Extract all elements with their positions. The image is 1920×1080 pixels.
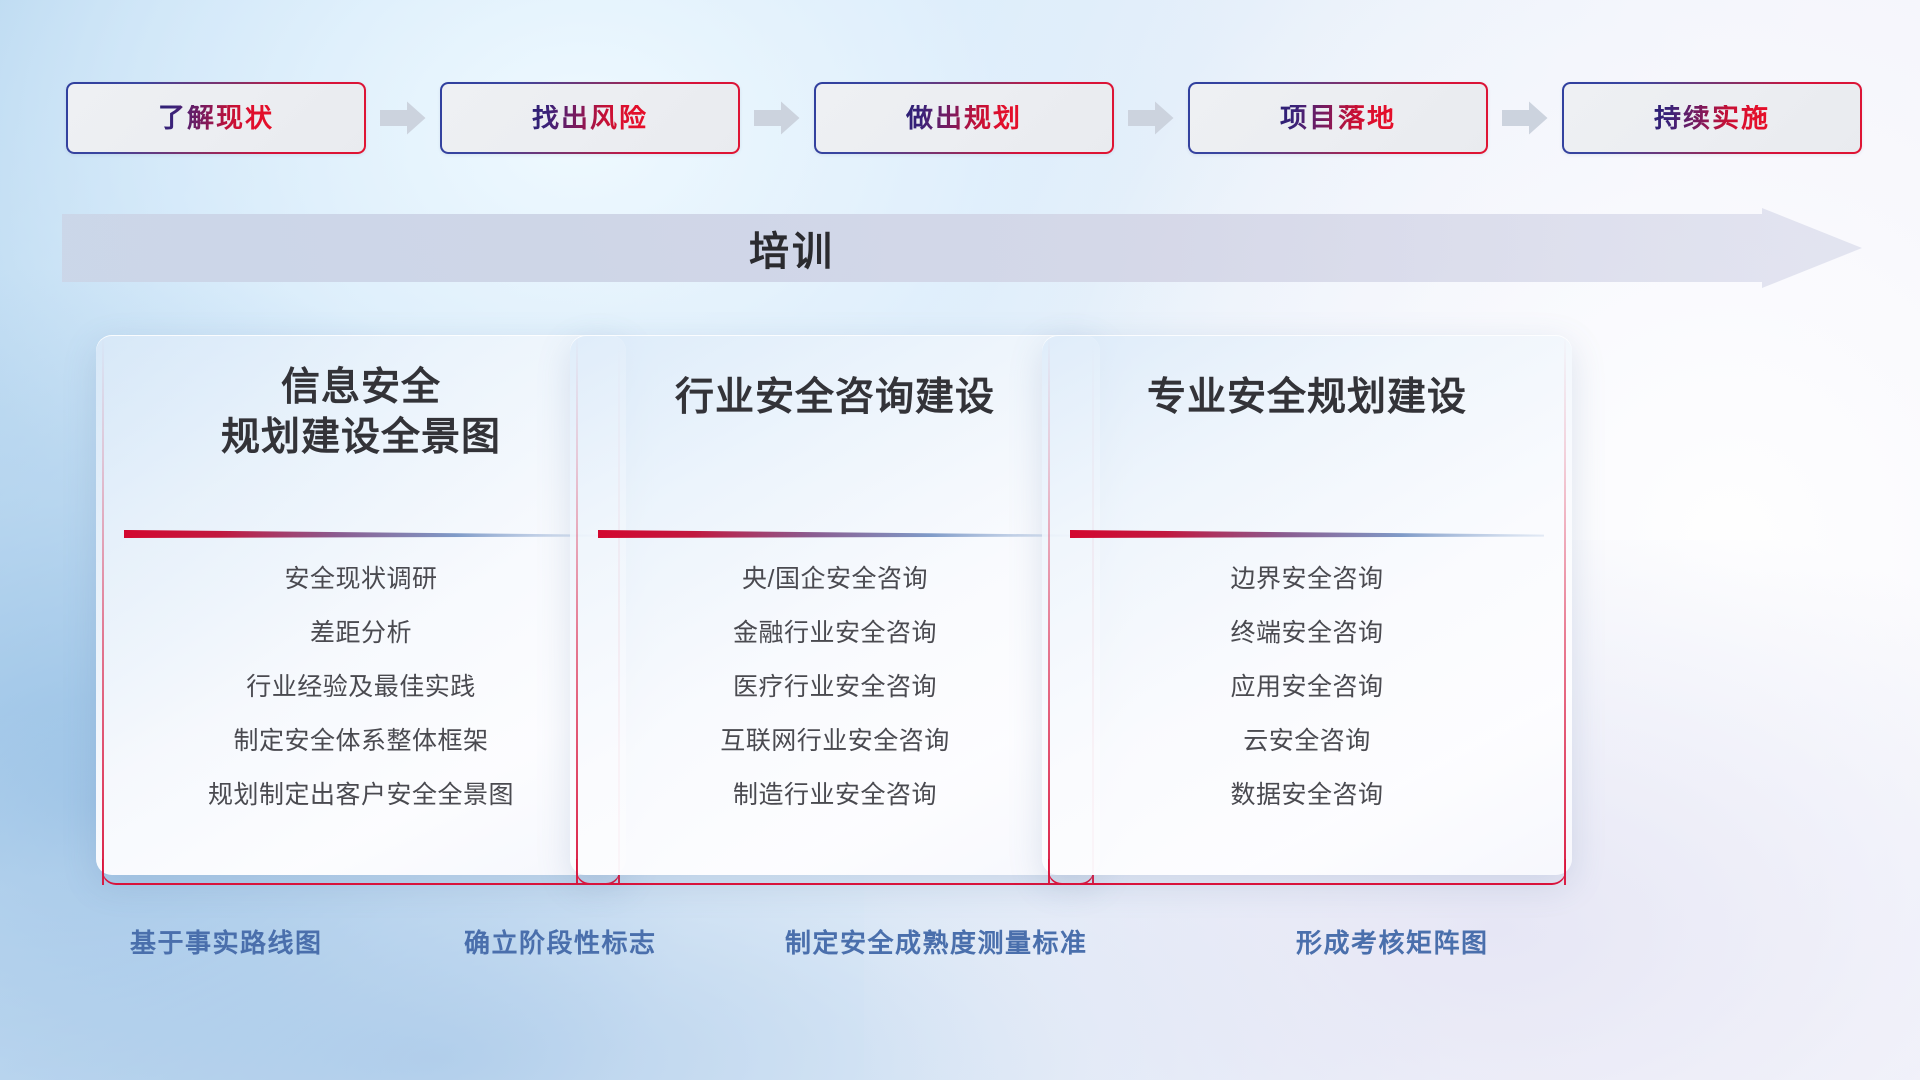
list-item: 互联网行业安全咨询 — [588, 729, 1082, 754]
list-item: 数据安全咨询 — [1060, 783, 1554, 808]
step-label: 项目落地 — [1280, 105, 1396, 132]
card-information-security[interactable]: 信息安全 规划建设全景图 — [96, 335, 626, 875]
step-box-3[interactable]: 做出规划 — [814, 82, 1114, 154]
list-item: 金融行业安全咨询 — [588, 621, 1082, 646]
card-title: 专业安全规划建设 — [1042, 373, 1572, 423]
list-item: 制定安全体系整体框架 — [114, 729, 608, 754]
card-title-line2: 规划建设全景图 — [116, 413, 606, 463]
footer-label-1: 基于事实路线图 — [130, 930, 323, 956]
card-divider — [124, 527, 598, 543]
card-industry-security-consulting[interactable]: 行业安全咨询建设 央/国 — [570, 335, 1100, 875]
footer-label-4: 形成考核矩阵图 — [1296, 930, 1489, 956]
card-title: 信息安全 规划建设全景图 — [96, 363, 626, 463]
card-professional-security-planning[interactable]: 专业安全规划建设 边界安 — [1042, 335, 1572, 875]
slide-canvas: 了解现状 找出风险 做出规划 项目落地 — [0, 0, 1920, 1080]
footer-label-2: 确立阶段性标志 — [464, 930, 657, 956]
card-list: 安全现状调研 差距分析 行业经验及最佳实践 制定安全体系整体框架 规划制定出客户… — [114, 567, 608, 808]
card-title-line1: 信息安全 — [116, 363, 606, 413]
process-step-flow: 了解现状 找出风险 做出规划 项目落地 — [66, 78, 1856, 158]
step-label: 做出规划 — [906, 105, 1022, 132]
footer-label-3: 制定安全成熟度测量标准 — [785, 930, 1088, 956]
list-item: 差距分析 — [114, 621, 608, 646]
card-list: 边界安全咨询 终端安全咨询 应用安全咨询 云安全咨询 数据安全咨询 — [1060, 567, 1554, 808]
list-item: 行业经验及最佳实践 — [114, 675, 608, 700]
step-box-1[interactable]: 了解现状 — [66, 82, 366, 154]
step-label: 持续实施 — [1654, 105, 1770, 132]
card-row: 信息安全 规划建设全景图 — [0, 335, 1920, 875]
step-box-4[interactable]: 项目落地 — [1188, 82, 1488, 154]
list-item: 制造行业安全咨询 — [588, 783, 1082, 808]
card-divider — [598, 527, 1072, 543]
card-title-line1: 行业安全咨询建设 — [590, 373, 1080, 423]
step-box-5[interactable]: 持续实施 — [1562, 82, 1862, 154]
list-item: 应用安全咨询 — [1060, 675, 1554, 700]
chevron-right-icon-4 — [1502, 101, 1548, 135]
step-label: 了解现状 — [158, 105, 274, 132]
card-title-line1: 专业安全规划建设 — [1062, 373, 1552, 423]
card-title: 行业安全咨询建设 — [570, 373, 1100, 423]
banner-label: 培训 — [62, 208, 1522, 288]
list-item: 云安全咨询 — [1060, 729, 1554, 754]
step-label: 找出风险 — [532, 105, 648, 132]
chevron-right-icon-1 — [380, 101, 426, 135]
card-divider — [1070, 527, 1544, 543]
list-item: 央/国企安全咨询 — [588, 567, 1082, 592]
list-item: 安全现状调研 — [114, 567, 608, 592]
footer-label-row: 基于事实路线图 确立阶段性标志 制定安全成熟度测量标准 形成考核矩阵图 — [0, 930, 1920, 980]
chevron-right-icon-2 — [754, 101, 800, 135]
list-item: 边界安全咨询 — [1060, 567, 1554, 592]
training-banner: 培训 — [62, 208, 1862, 288]
card-list: 央/国企安全咨询 金融行业安全咨询 医疗行业安全咨询 互联网行业安全咨询 制造行… — [588, 567, 1082, 808]
step-box-2[interactable]: 找出风险 — [440, 82, 740, 154]
list-item: 医疗行业安全咨询 — [588, 675, 1082, 700]
list-item: 终端安全咨询 — [1060, 621, 1554, 646]
chevron-right-icon-3 — [1128, 101, 1174, 135]
list-item: 规划制定出客户安全全景图 — [114, 783, 608, 808]
